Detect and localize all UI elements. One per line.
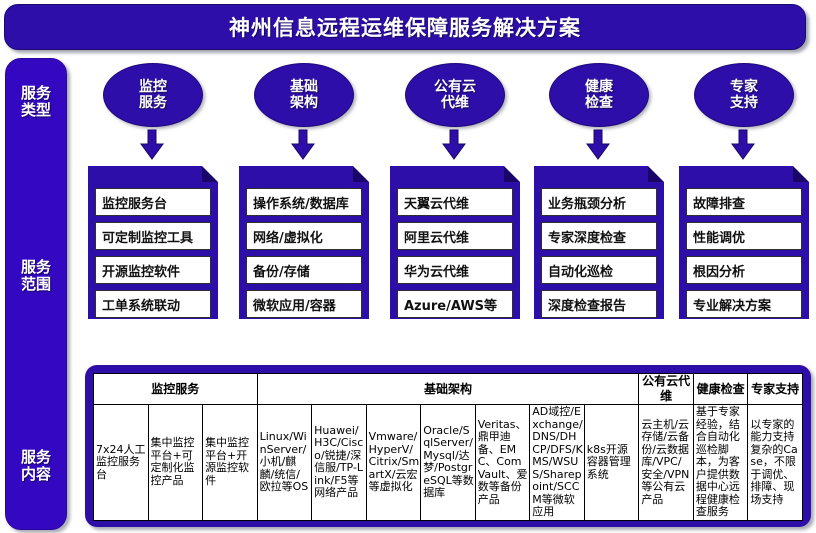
service-type-ellipse-public-cloud-ops[interactable]: 公有云代维 (405, 63, 505, 127)
ellipse-label-line2: 架构 (290, 95, 318, 111)
table-cell: Oracle/SqlServer/Mysql/达梦/PostgreSQL等数据库 (421, 405, 476, 521)
scope-item-label: 业务瓶颈分析 (548, 193, 626, 212)
rail-label-service-scope: 服务 范围 (6, 259, 66, 293)
table-cell: 集中监控平台+可定制化监控产品 (148, 405, 203, 521)
rail-label-service-scope-line2: 范围 (6, 276, 66, 293)
ellipse-label-line1: 健康 (585, 79, 613, 95)
diagram-canvas: 神州信息远程运维保障服务解决方案 服务 类型 服务 范围 服务 内容 监控服务监… (0, 0, 816, 533)
service-scope-card-expert-support: 故障排查性能调优根因分析专业解决方案 (679, 166, 809, 319)
scope-item-label: 华为云代维 (404, 261, 469, 280)
scope-item[interactable]: 工单系统联动 (95, 290, 211, 318)
table-cell: 7x24人工监控服务台 (94, 405, 149, 521)
scope-item-label: 阿里云代维 (404, 227, 469, 246)
scope-item[interactable]: 监控服务台 (95, 188, 211, 216)
scope-item[interactable]: 华为云代维 (397, 256, 513, 284)
rail-label-service-type: 服务 类型 (6, 85, 66, 119)
scope-item[interactable]: 开源监控软件 (95, 256, 211, 284)
scope-item[interactable]: 操作系统/数据库 (246, 188, 362, 216)
scope-item[interactable]: 专家深度检查 (541, 222, 657, 250)
scope-item-label: 工单系统联动 (102, 295, 180, 314)
ellipse-label: 健康检查 (585, 79, 613, 111)
table-cell: AD域控/Exchange/DNS/DHCP/DFS/KMS/WSUS/Shar… (530, 405, 585, 521)
scope-item[interactable]: 自动化巡检 (541, 256, 657, 284)
scope-item-label: 可定制监控工具 (102, 227, 193, 246)
scope-item[interactable]: 阿里云代维 (397, 222, 513, 250)
table-group-header: 公有云代维 (639, 374, 694, 405)
table-cell: 基于专家经验，结合自动化巡检脚本，为客户提供数据中心远程健康检查服务 (693, 405, 748, 521)
ellipse-label-line1: 基础 (290, 79, 318, 95)
service-content-table: 监控服务基础架构公有云代维健康检查专家支持 7x24人工监控服务台集中监控平台+… (93, 373, 803, 521)
scope-item[interactable]: 可定制监控工具 (95, 222, 211, 250)
ellipse-label-line2: 检查 (585, 95, 613, 111)
arrow-down-icon (730, 128, 756, 162)
ellipse-label: 公有云代维 (434, 79, 476, 111)
rail-label-service-content: 服务 内容 (6, 449, 66, 483)
scope-item[interactable]: 专业解决方案 (686, 290, 802, 318)
folded-corner-icon (202, 166, 218, 182)
arrow-down-icon (441, 128, 467, 162)
ellipse-label: 监控服务 (139, 79, 167, 111)
ellipse-label-line1: 专家 (730, 79, 758, 95)
table-cell: Vmware/HyperV/Citrix/SmartX/云宏等虚拟化 (366, 405, 421, 521)
folded-corner-icon (793, 166, 809, 182)
folded-corner-icon (353, 166, 369, 182)
scope-item-label: 微软应用/容器 (253, 295, 336, 314)
ellipse-label-line2: 服务 (139, 95, 167, 111)
table-group-header-row: 监控服务基础架构公有云代维健康检查专家支持 (94, 374, 803, 405)
service-type-ellipse-health-check[interactable]: 健康检查 (549, 63, 649, 127)
table-group-header: 监控服务 (94, 374, 258, 405)
page-title-banner: 神州信息远程运维保障服务解决方案 (4, 4, 806, 50)
scope-item[interactable]: 天翼云代维 (397, 188, 513, 216)
table-cell: 集中监控平台+开源监控软件 (203, 405, 258, 521)
scope-item[interactable]: 性能调优 (686, 222, 802, 250)
scope-item[interactable]: 业务瓶颈分析 (541, 188, 657, 216)
rail-label-service-type-line2: 类型 (6, 102, 66, 119)
folded-corner-icon (648, 166, 664, 182)
service-type-ellipse-monitoring-service[interactable]: 监控服务 (103, 63, 203, 127)
scope-item-label: 开源监控软件 (102, 261, 180, 280)
rail-label-service-content-line2: 内容 (6, 466, 66, 483)
table-cell: Veritas、鼎甲迪备、EMC、ComVault、爱数等备份产品 (475, 405, 530, 521)
service-type-ellipse-expert-support[interactable]: 专家支持 (694, 63, 794, 127)
ellipse-label-line2: 支持 (730, 95, 758, 111)
scope-item-label: 专家深度检查 (548, 227, 626, 246)
scope-item[interactable]: 深度检查报告 (541, 290, 657, 318)
table-cell: 云主机/云存储/云备份/云数据库/VPC/安全/VPN等公有云产品 (639, 405, 694, 521)
scope-item[interactable]: 根因分析 (686, 256, 802, 284)
scope-item-label: 深度检查报告 (548, 295, 626, 314)
page-title: 神州信息远程运维保障服务解决方案 (229, 12, 581, 42)
rail-label-service-scope-line1: 服务 (6, 259, 66, 276)
table-cell: k8s开源容器管理系统 (584, 405, 639, 521)
table-group-header: 专家支持 (748, 374, 803, 405)
scope-item[interactable]: 微软应用/容器 (246, 290, 362, 318)
category-rail: 服务 类型 服务 范围 服务 内容 (5, 58, 67, 530)
scope-item[interactable]: 备份/存储 (246, 256, 362, 284)
table-cell: Huawei/H3C/Cisco/锐捷/深信服/TP-Link/F5等网络产品 (312, 405, 367, 521)
scope-item-label: 网络/虚拟化 (253, 227, 323, 246)
service-scope-card-health-check: 业务瓶颈分析专家深度检查自动化巡检深度检查报告 (534, 166, 664, 319)
scope-item-label: 根因分析 (693, 261, 745, 280)
scope-item[interactable]: 网络/虚拟化 (246, 222, 362, 250)
arrow-down-icon (139, 128, 165, 162)
ellipse-label: 基础架构 (290, 79, 318, 111)
table-cell: 以专家的能力支持复杂的Case，不限于调优、排障、现场支持 (748, 405, 803, 521)
table-group-header: 健康检查 (693, 374, 748, 405)
rail-label-service-type-line1: 服务 (6, 85, 66, 102)
table-cell: Linux/WinServer/小机/麒麟/统信/欧拉等OS (257, 405, 312, 521)
scope-item-label: 故障排查 (693, 193, 745, 212)
scope-item-label: 天翼云代维 (404, 193, 469, 212)
scope-item-label: 监控服务台 (102, 193, 167, 212)
scope-item-label: 性能调优 (693, 227, 745, 246)
ellipse-label-line1: 公有云 (434, 79, 476, 95)
scope-item-label: 操作系统/数据库 (253, 193, 349, 212)
folded-corner-icon (504, 166, 520, 182)
service-scope-card-public-cloud-ops: 天翼云代维阿里云代维华为云代维Azure/AWS等 (390, 166, 520, 319)
ellipse-label-line2: 代维 (441, 95, 469, 111)
scope-item[interactable]: Azure/AWS等 (397, 290, 513, 318)
scope-item-label: 备份/存储 (253, 261, 310, 280)
service-content-panel: 监控服务基础架构公有云代维健康检查专家支持 7x24人工监控服务台集中监控平台+… (85, 365, 811, 527)
service-scope-card-infrastructure: 操作系统/数据库网络/虚拟化备份/存储微软应用/容器 (239, 166, 369, 319)
scope-item-label: 专业解决方案 (693, 295, 771, 314)
table-group-header: 基础架构 (257, 374, 639, 405)
arrow-down-icon (585, 128, 611, 162)
scope-item-label: 自动化巡检 (548, 261, 613, 280)
service-type-ellipse-infrastructure[interactable]: 基础架构 (254, 63, 354, 127)
scope-item-label: Azure/AWS等 (404, 295, 497, 314)
table-row: 7x24人工监控服务台集中监控平台+可定制化监控产品集中监控平台+开源监控软件L… (94, 405, 803, 521)
service-scope-card-monitoring-service: 监控服务台可定制监控工具开源监控软件工单系统联动 (88, 166, 218, 319)
ellipse-label: 专家支持 (730, 79, 758, 111)
rail-label-service-content-line1: 服务 (6, 449, 66, 466)
ellipse-label-line1: 监控 (139, 79, 167, 95)
scope-item[interactable]: 故障排查 (686, 188, 802, 216)
arrow-down-icon (290, 128, 316, 162)
